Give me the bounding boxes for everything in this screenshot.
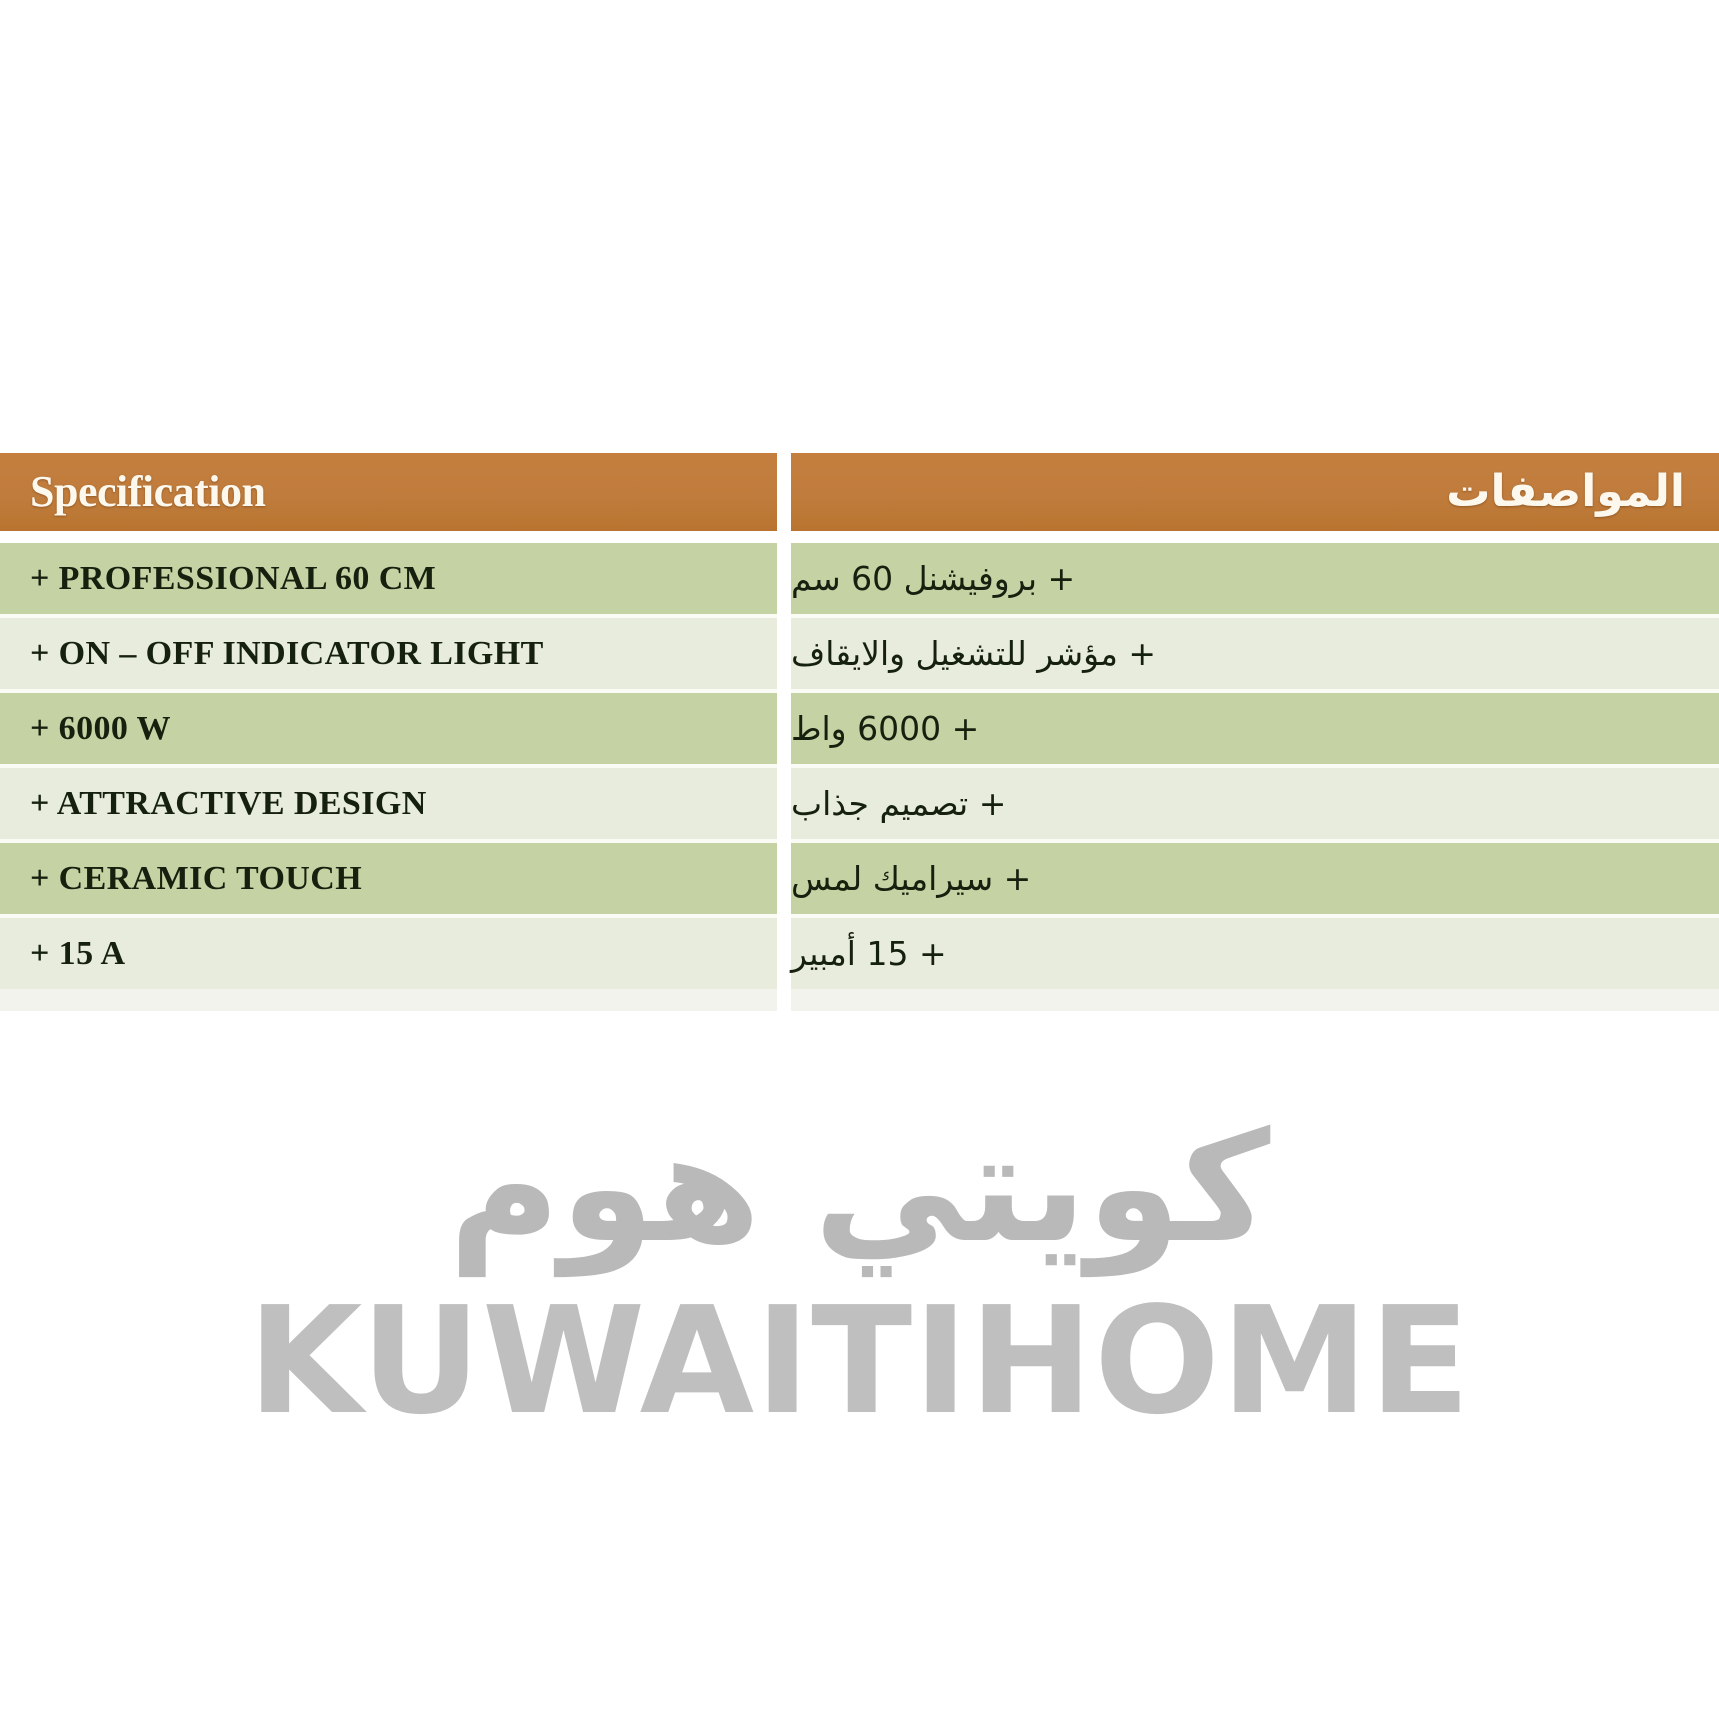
row-5-arabic-cell: + سيراميك لمس	[791, 843, 1719, 914]
row-2-arabic-cell: + مؤشر للتشغيل والايقاف	[791, 618, 1719, 689]
row-5-english-cell-wrap: + CERAMIC TOUCH	[0, 843, 777, 914]
row-3-english-cell: + 6000 W	[0, 693, 777, 764]
row-6-arabic-text: + 15 أمبير	[791, 934, 947, 973]
row-5-divider	[777, 843, 791, 914]
english-column-header: Specification	[0, 453, 777, 531]
row-5-english-cell: + CERAMIC TOUCH	[0, 843, 777, 914]
row-2-english-cell-wrap: + ON – OFF INDICATOR LIGHT	[0, 618, 777, 689]
arabic-header-band: المواصفات	[791, 453, 1719, 531]
table-row: + PROFESSIONAL 60 CM + بروفيشنل 60 سم	[0, 543, 1719, 614]
row-1-english-text: + PROFESSIONAL 60 CM	[30, 560, 436, 598]
specification-table: Specification المواصفات + PROFESSIONAL 6…	[0, 453, 1719, 1011]
row-3-arabic-cell-wrap: + 6000 واط	[791, 693, 1719, 764]
row-4-english-cell-wrap: + ATTRACTIVE DESIGN	[0, 768, 777, 839]
row-1-arabic-cell: + بروفيشنل 60 سم	[791, 543, 1719, 614]
table-row: + CERAMIC TOUCH + سيراميك لمس	[0, 843, 1719, 914]
row-1-english-cell-wrap: + PROFESSIONAL 60 CM	[0, 543, 777, 614]
watermark-english-text: KUWAITIHOME	[0, 1280, 1719, 1443]
row-4-english-cell: + ATTRACTIVE DESIGN	[0, 768, 777, 839]
arabic-column-header: المواصفات	[791, 453, 1719, 531]
column-divider	[777, 453, 791, 531]
row-2-english-text: + ON – OFF INDICATOR LIGHT	[30, 635, 544, 673]
row-1-english-cell: + PROFESSIONAL 60 CM	[0, 543, 777, 614]
row-3-arabic-text: + 6000 واط	[791, 709, 979, 748]
row-6-english-cell: + 15 A	[0, 918, 777, 989]
row-4-arabic-text: + تصميم جذاب	[791, 784, 1006, 823]
row-5-arabic-text: + سيراميك لمس	[791, 859, 1031, 898]
table-bottom-edge	[0, 989, 1719, 1011]
watermark-arabic-text: كويتي هوم	[0, 1095, 1719, 1280]
row-5-arabic-cell-wrap: + سيراميك لمس	[791, 843, 1719, 914]
row-5-english-text: + CERAMIC TOUCH	[30, 860, 362, 898]
specification-header-label-en: Specification	[30, 470, 265, 514]
row-6-english-cell-wrap: + 15 A	[0, 918, 777, 989]
row-2-english-cell: + ON – OFF INDICATOR LIGHT	[0, 618, 777, 689]
row-1-arabic-text: + بروفيشنل 60 سم	[791, 559, 1075, 598]
table-row: + 6000 W + 6000 واط	[0, 693, 1719, 764]
row-2-divider	[777, 618, 791, 689]
watermark: كويتي هوم KUWAITIHOME	[0, 1095, 1719, 1443]
row-3-english-cell-wrap: + 6000 W	[0, 693, 777, 764]
english-header-band: Specification	[0, 453, 777, 531]
row-1-divider	[777, 543, 791, 614]
row-6-arabic-cell: + 15 أمبير	[791, 918, 1719, 989]
table-row: + ATTRACTIVE DESIGN + تصميم جذاب	[0, 768, 1719, 839]
table-row: + 15 A + 15 أمبير	[0, 918, 1719, 989]
product-specification-page: Specification المواصفات + PROFESSIONAL 6…	[0, 0, 1719, 1719]
row-3-divider	[777, 693, 791, 764]
row-4-divider	[777, 768, 791, 839]
header-separator	[0, 531, 1719, 543]
row-1-arabic-cell-wrap: + بروفيشنل 60 سم	[791, 543, 1719, 614]
row-2-arabic-text: + مؤشر للتشغيل والايقاف	[791, 634, 1156, 673]
table-header-row: Specification المواصفات	[0, 453, 1719, 531]
specification-header-label-ar: المواصفات	[1446, 470, 1685, 514]
row-2-arabic-cell-wrap: + مؤشر للتشغيل والايقاف	[791, 618, 1719, 689]
row-3-english-text: + 6000 W	[30, 710, 171, 748]
table-row: + ON – OFF INDICATOR LIGHT + مؤشر للتشغي…	[0, 618, 1719, 689]
row-4-arabic-cell: + تصميم جذاب	[791, 768, 1719, 839]
row-3-arabic-cell: + 6000 واط	[791, 693, 1719, 764]
row-6-english-text: + 15 A	[30, 935, 125, 973]
row-6-divider	[777, 918, 791, 989]
row-6-arabic-cell-wrap: + 15 أمبير	[791, 918, 1719, 989]
row-4-english-text: + ATTRACTIVE DESIGN	[30, 785, 427, 823]
row-4-arabic-cell-wrap: + تصميم جذاب	[791, 768, 1719, 839]
